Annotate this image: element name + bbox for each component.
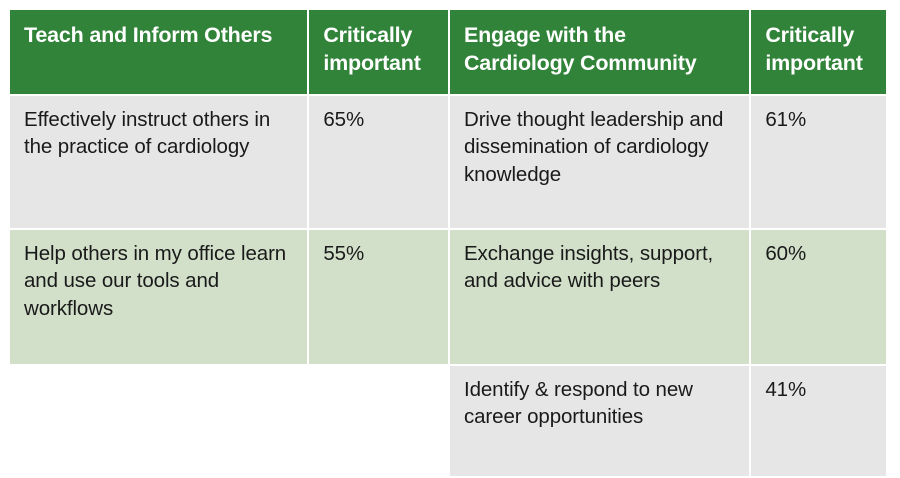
table-row: Identify & respond to new career opportu… xyxy=(10,366,886,476)
cell-engage-activity-2: Exchange insights, support, and advice w… xyxy=(450,230,749,364)
column-header-teach-and-inform-others: Teach and Inform Others xyxy=(10,10,307,94)
table-row: Help others in my office learn and use o… xyxy=(10,230,886,364)
table-body: Effectively instruct others in the pract… xyxy=(10,96,886,476)
survey-results-table: Teach and Inform Others Critically impor… xyxy=(8,8,888,478)
cell-teach-percent-3-empty xyxy=(309,366,448,476)
column-header-critically-important-right: Critically important xyxy=(751,10,886,94)
table-header: Teach and Inform Others Critically impor… xyxy=(10,10,886,94)
header-row: Teach and Inform Others Critically impor… xyxy=(10,10,886,94)
cell-teach-percent-2: 55% xyxy=(309,230,448,364)
cell-engage-percent-3: 41% xyxy=(751,366,886,476)
column-header-critically-important-left: Critically important xyxy=(309,10,448,94)
table-container: Teach and Inform Others Critically impor… xyxy=(0,0,900,448)
cell-teach-activity-3-empty xyxy=(10,366,307,476)
cell-engage-activity-3: Identify & respond to new career opportu… xyxy=(450,366,749,476)
cell-teach-percent-1: 65% xyxy=(309,96,448,228)
cell-teach-activity-1: Effectively instruct others in the pract… xyxy=(10,96,307,228)
cell-engage-activity-1: Drive thought leadership and disseminati… xyxy=(450,96,749,228)
column-header-engage-with-cardiology-community: Engage with the Cardiology Community xyxy=(450,10,749,94)
table-row: Effectively instruct others in the pract… xyxy=(10,96,886,228)
cell-engage-percent-2: 60% xyxy=(751,230,886,364)
cell-teach-activity-2: Help others in my office learn and use o… xyxy=(10,230,307,364)
cell-engage-percent-1: 61% xyxy=(751,96,886,228)
